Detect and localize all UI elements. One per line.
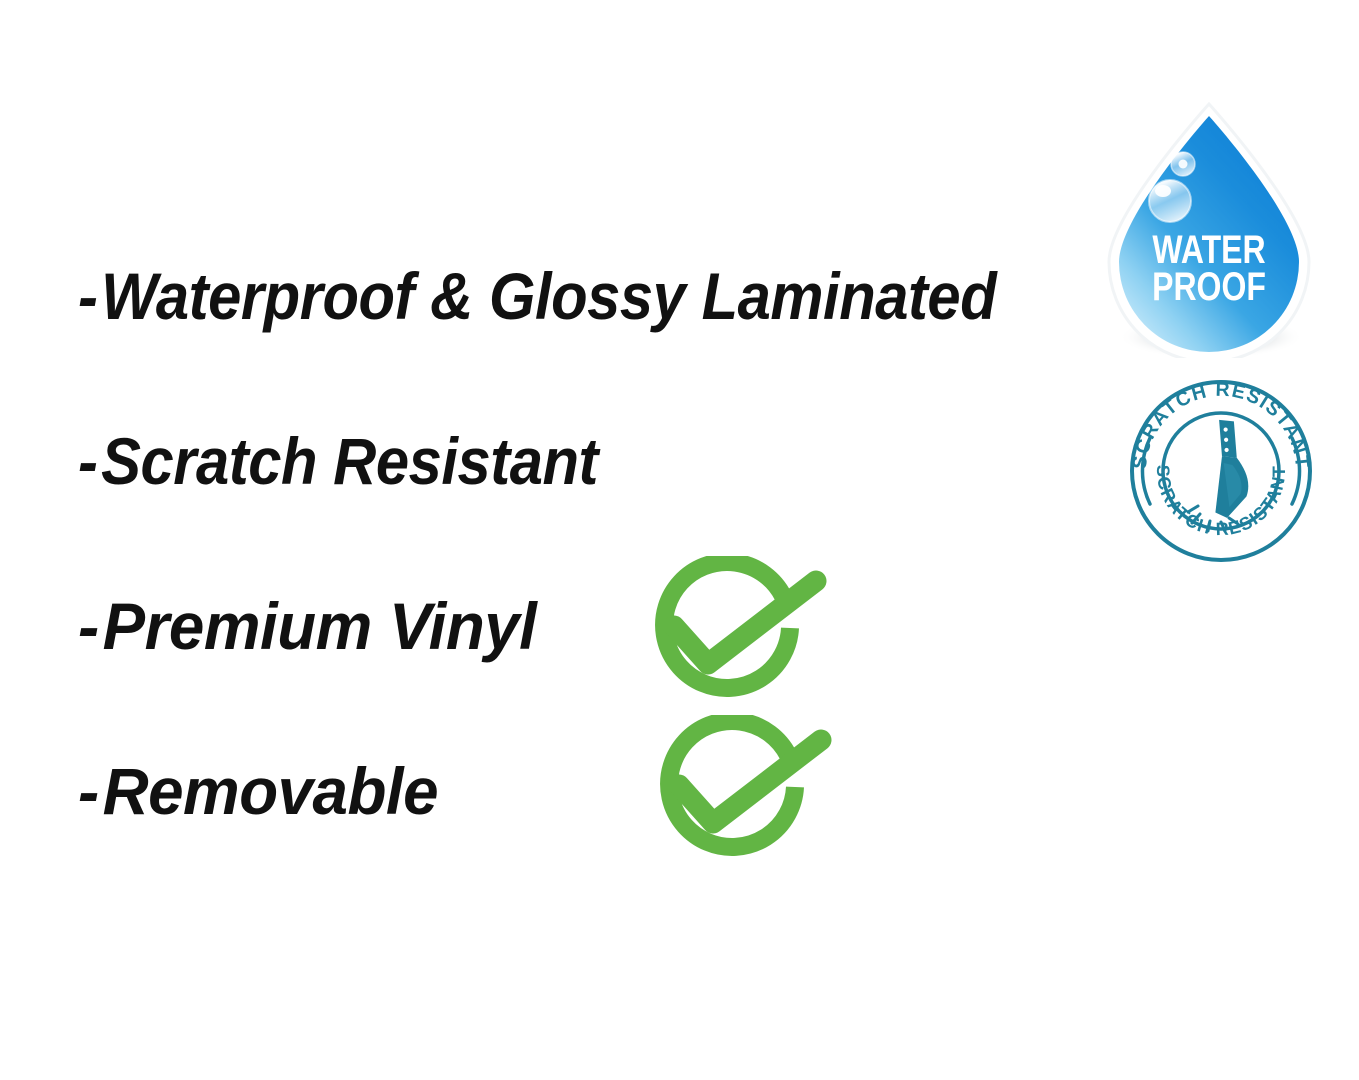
checkmark-premium-vinyl [638, 556, 828, 706]
check-tick [679, 740, 821, 823]
feature-line-premium-vinyl: -Premium Vinyl [78, 588, 536, 664]
bubble-large-highlight [1155, 185, 1171, 197]
feature-line-waterproof-glossy-laminated: -Waterproof & Glossy Laminated [78, 258, 996, 334]
water-drop-icon: WATER PROOF [1097, 102, 1321, 358]
bubble-small-highlight [1179, 160, 1188, 169]
bullet-dash: - [78, 753, 99, 829]
circle-check-icon [643, 715, 833, 865]
feature-line-removable: -Removable [78, 753, 438, 829]
scratch-resistant-badge: SCRATCH RESISTANT SCRATCH RESISTANT [1128, 378, 1314, 564]
feature-label: Scratch Resistant [101, 423, 598, 499]
feature-label: Premium Vinyl [103, 588, 537, 664]
circle-check-icon [638, 556, 828, 706]
waterproof-line2: PROOF [1152, 264, 1266, 309]
knife-stamp-icon: SCRATCH RESISTANT SCRATCH RESISTANT [1128, 378, 1314, 564]
feature-line-scratch-resistant: -Scratch Resistant [78, 423, 598, 499]
bullet-dash: - [78, 588, 99, 664]
feature-label: Removable [103, 753, 438, 829]
knife-icon [1194, 416, 1256, 520]
bullet-dash: - [78, 423, 97, 499]
check-tick [674, 581, 816, 664]
product-feature-graphic: -Waterproof & Glossy Laminated -Scratch … [0, 0, 1359, 1080]
feature-label: Waterproof & Glossy Laminated [101, 258, 996, 334]
bullet-dash: - [78, 258, 97, 334]
bubble-large-icon [1149, 180, 1191, 222]
checkmark-removable [643, 715, 833, 865]
waterproof-badge: WATER PROOF [1097, 102, 1321, 358]
